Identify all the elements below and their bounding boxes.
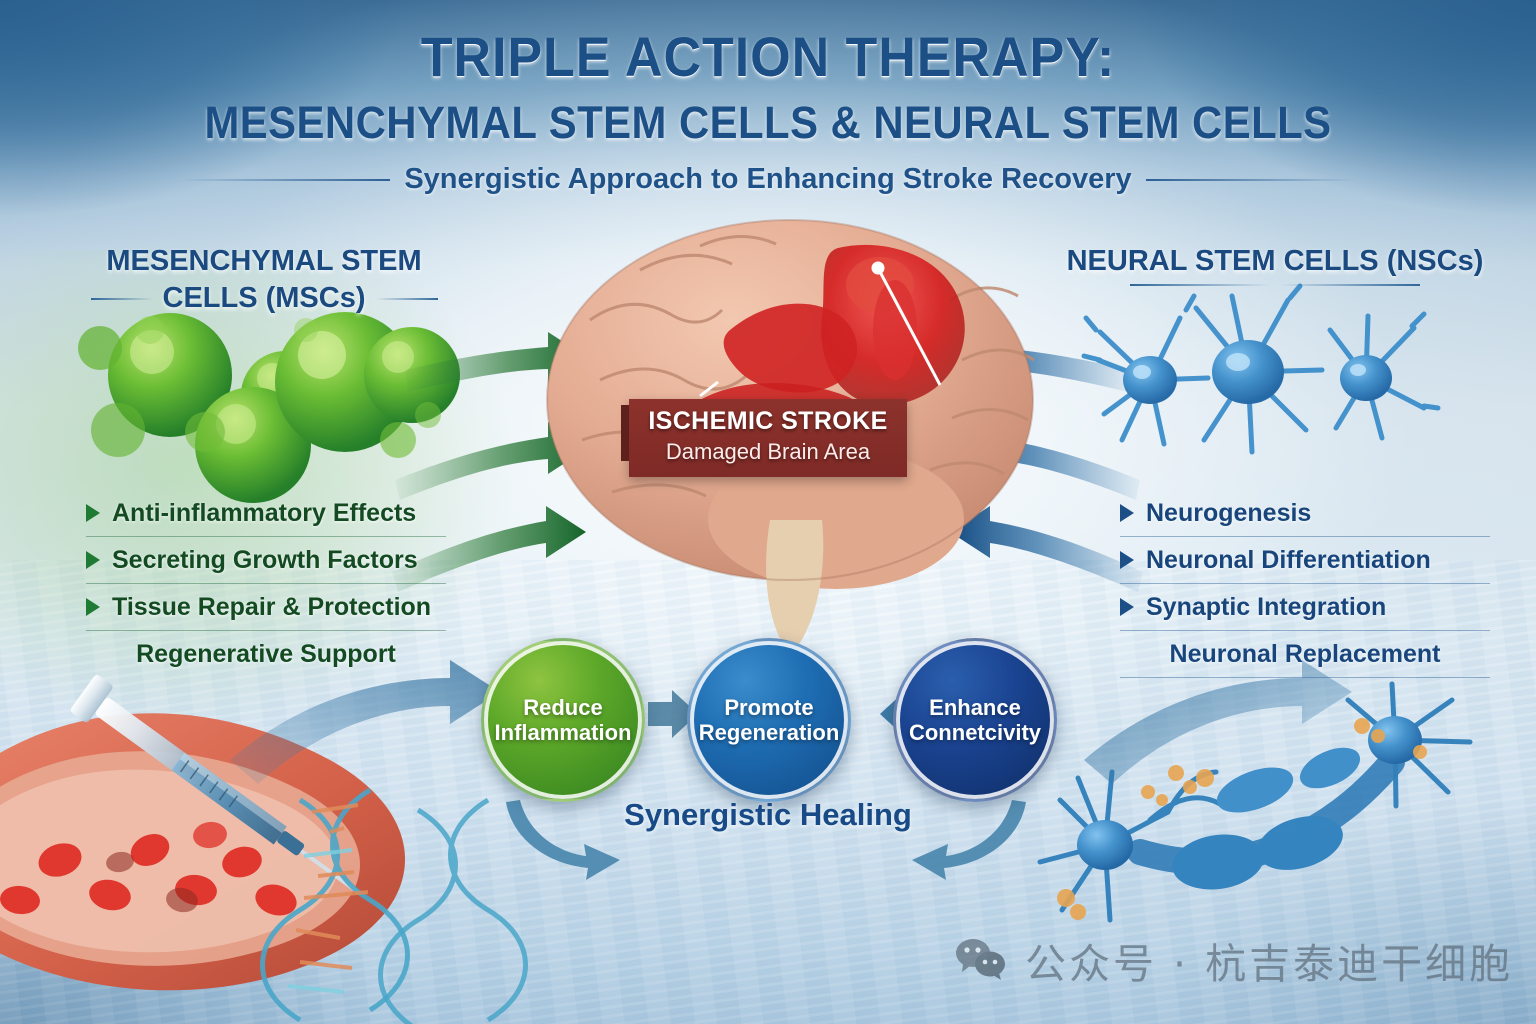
page-title-line2: MESENCHYMAL STEM CELLS & NEURAL STEM CEL… xyxy=(54,97,1482,149)
msc-heading-line2-row: CELLS (MSCs) xyxy=(74,280,454,317)
watermark: 公众号 · 杭吉泰迪干细胞 xyxy=(955,930,1513,990)
msc-heading-line2: CELLS (MSCs) xyxy=(163,280,366,317)
nsc-heading-rule-right xyxy=(1280,284,1420,286)
process-circle-promote-regeneration[interactable]: Promote Regeneration xyxy=(687,638,851,802)
list-item: Tissue Repair & Protection xyxy=(86,584,446,631)
watermark-text: 公众号 · 杭吉泰迪干细胞 xyxy=(1025,930,1513,990)
synapse-illustration xyxy=(1040,684,1470,920)
triangle-bullet-icon xyxy=(1120,598,1134,616)
page-title-line1: TRIPLE ACTION THERAPY: xyxy=(54,24,1482,89)
dna-helix xyxy=(263,790,408,1020)
triangle-bullet-icon xyxy=(86,551,100,569)
triangle-bullet-icon xyxy=(86,598,100,616)
list-item: Synaptic Integration xyxy=(1120,584,1490,631)
triangle-bullet-icon xyxy=(1120,504,1134,522)
blood-vessel-injection xyxy=(0,674,526,1024)
msc-cell-cluster xyxy=(78,312,460,503)
header: TRIPLE ACTION THERAPY: MESENCHYMAL STEM … xyxy=(0,24,1536,196)
msc-benefit-list: Anti-inflammatory Effects Secreting Grow… xyxy=(86,490,446,678)
subtitle-rule-left xyxy=(180,179,390,181)
msc-heading-rule-left xyxy=(91,298,153,300)
list-item: Secreting Growth Factors xyxy=(86,537,446,584)
list-item: Regenerative Support xyxy=(86,631,446,678)
nsc-item-1: Neuronal Differentiation xyxy=(1146,546,1431,575)
page-subtitle: Synergistic Approach to Enhancing Stroke… xyxy=(404,163,1131,196)
stroke-label-title: ISCHEMIC STROKE xyxy=(629,407,907,436)
nsc-benefit-list: Neurogenesis Neuronal Differentiation Sy… xyxy=(1120,490,1490,678)
infographic-canvas: TRIPLE ACTION THERAPY: MESENCHYMAL STEM … xyxy=(0,0,1536,1024)
msc-item-2: Tissue Repair & Protection xyxy=(112,593,431,622)
nsc-footer-label: Neuronal Replacement xyxy=(1170,640,1441,669)
msc-item-0: Anti-inflammatory Effects xyxy=(112,499,416,528)
nsc-to-brain-arrows xyxy=(948,332,1143,592)
stroke-label-subtitle: Damaged Brain Area xyxy=(629,439,907,465)
circle-1-line2: Regeneration xyxy=(691,720,848,745)
nsc-heading-rule-row xyxy=(1060,284,1490,286)
msc-column-heading: MESENCHYMAL STEM CELLS (MSCs) xyxy=(74,243,454,317)
wechat-icon xyxy=(955,938,1009,982)
subtitle-row: Synergistic Approach to Enhancing Stroke… xyxy=(0,163,1536,196)
circle-2-line1: Enhance xyxy=(901,695,1049,720)
nsc-neuron-cluster xyxy=(1084,286,1438,452)
list-item: Neuronal Differentiation xyxy=(1120,537,1490,584)
msc-heading-rule-right xyxy=(376,298,438,300)
nsc-heading-rule-left xyxy=(1130,284,1270,286)
list-item: Neurogenesis xyxy=(1120,490,1490,537)
nsc-item-2: Synaptic Integration xyxy=(1146,593,1386,622)
nsc-heading-text: NEURAL STEM CELLS (NSCs) xyxy=(1060,243,1490,280)
subtitle-rule-right xyxy=(1146,179,1356,181)
right-swoosh-arrow xyxy=(1084,660,1352,784)
nsc-item-0: Neurogenesis xyxy=(1146,499,1311,528)
triangle-bullet-icon xyxy=(86,504,100,522)
dna-helix-2 xyxy=(381,800,526,1024)
msc-item-1: Secreting Growth Factors xyxy=(112,546,418,575)
circle-0-line1: Reduce xyxy=(487,695,640,720)
left-swoosh-arrow xyxy=(230,660,500,784)
circle-0-line2: Inflammation xyxy=(487,720,640,745)
circle-1-line1: Promote xyxy=(691,695,848,720)
circle-2-line2: Connetcivity xyxy=(901,720,1049,745)
process-circle-enhance-connectivity[interactable]: Enhance Connetcivity xyxy=(893,638,1057,802)
triangle-bullet-icon xyxy=(1120,551,1134,569)
msc-heading-line1: MESENCHYMAL STEM xyxy=(74,243,454,280)
msc-footer-label: Regenerative Support xyxy=(136,640,396,669)
process-circle-reduce-inflammation[interactable]: Reduce Inflammation xyxy=(481,638,645,802)
list-item: Neuronal Replacement xyxy=(1120,631,1490,678)
nsc-column-heading: NEURAL STEM CELLS (NSCs) xyxy=(1060,243,1490,286)
synergistic-healing-label: Synergistic Healing xyxy=(598,797,938,833)
ischemic-stroke-label: ISCHEMIC STROKE Damaged Brain Area xyxy=(629,399,907,477)
list-item: Anti-inflammatory Effects xyxy=(86,490,446,537)
